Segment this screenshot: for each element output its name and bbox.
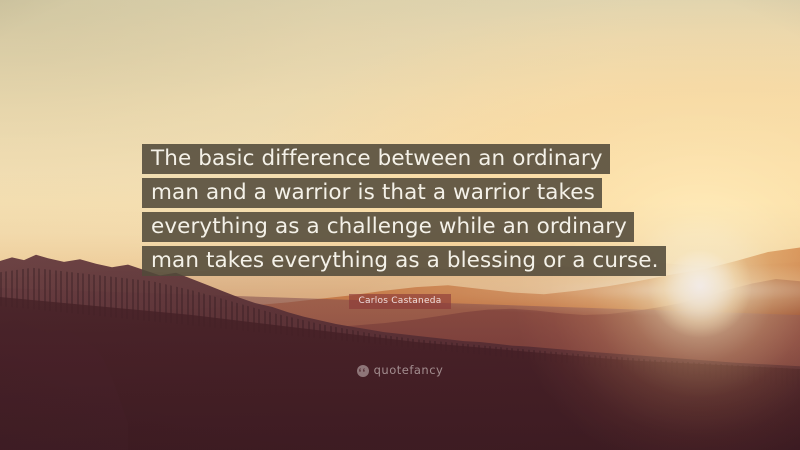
watermark-brand: quotefancy <box>374 364 444 377</box>
quote-mark-icon <box>357 365 369 377</box>
author-name: Carlos Castaneda <box>349 294 450 309</box>
quote-line: man takes everything as a blessing or a … <box>142 246 666 276</box>
quote-line: The basic difference between an ordinary <box>142 144 610 174</box>
quote-line: everything as a challenge while an ordin… <box>142 212 634 242</box>
quote-poster: The basic difference between an ordinary… <box>0 0 800 450</box>
watermark: quotefancy <box>0 364 800 377</box>
quote-line: man and a warrior is that a warrior take… <box>142 178 602 208</box>
quote-text-block: The basic difference between an ordinary… <box>142 144 702 280</box>
attribution: Carlos Castaneda <box>0 288 800 309</box>
